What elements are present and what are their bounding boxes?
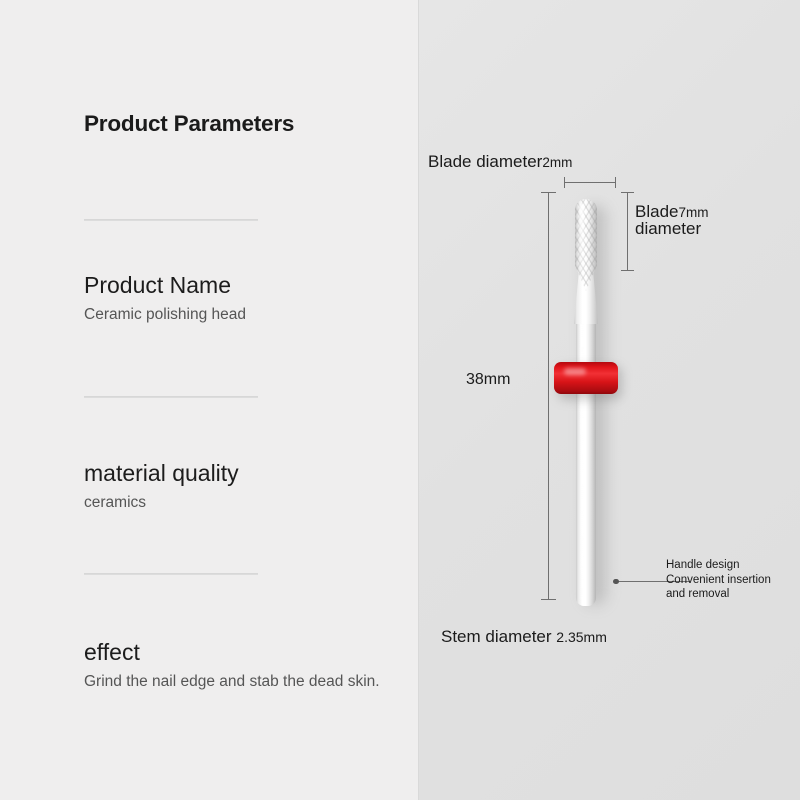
annotation-handle-line2: Convenient insertion bbox=[666, 574, 771, 586]
annotation-handle-design: Handle design Convenient insertion and r… bbox=[666, 558, 794, 602]
parameters-panel: Product Parameters Product Name Ceramic … bbox=[0, 0, 418, 800]
leader-dot-handle-note bbox=[613, 579, 619, 585]
dimension-cap-blade-diameter-right bbox=[615, 177, 616, 188]
annotation-total-length: 38mm bbox=[466, 371, 510, 389]
divider-1 bbox=[84, 219, 258, 221]
annotation-stem-diameter-label: Stem diameter bbox=[441, 627, 552, 646]
product-illustration: Blade diameter2mm Blade7mm diameter 38mm… bbox=[418, 0, 800, 800]
annotation-stem-diameter-value: 2.35mm bbox=[556, 629, 607, 645]
annotation-stem-diameter: Stem diameter 2.35mm bbox=[441, 627, 607, 647]
spec-value-effect: Grind the nail edge and stab the dead sk… bbox=[84, 672, 380, 692]
annotation-blade-length: Blade7mm diameter bbox=[635, 203, 708, 238]
stem-highlight bbox=[580, 305, 584, 600]
page-title: Product Parameters bbox=[84, 111, 294, 137]
stem-shaft bbox=[576, 300, 596, 606]
annotation-handle-line1: Handle design bbox=[666, 559, 740, 571]
panel-divider bbox=[418, 0, 419, 800]
blade-highlight bbox=[579, 203, 584, 281]
spec-label-product-name: Product Name bbox=[84, 273, 246, 299]
annotation-blade-length-value: 7mm bbox=[678, 205, 708, 220]
dimension-line-blade-diameter bbox=[564, 182, 616, 183]
dimension-cap-blade-diameter-left bbox=[564, 177, 565, 188]
product-parameters-page: Product Parameters Product Name Ceramic … bbox=[0, 0, 800, 800]
spec-material-quality: material quality ceramics bbox=[84, 461, 239, 513]
annotation-blade-length-label-line2: diameter bbox=[635, 219, 701, 238]
dimension-line-total-length bbox=[548, 192, 549, 600]
dimension-cap-total-length-top bbox=[541, 192, 556, 193]
dimension-cap-blade-length-top bbox=[621, 192, 634, 193]
dimension-cap-total-length-bottom bbox=[541, 599, 556, 600]
spec-label-material-quality: material quality bbox=[84, 461, 239, 487]
annotation-blade-diameter-value: 2mm bbox=[542, 155, 572, 170]
annotation-blade-diameter: Blade diameter2mm bbox=[428, 152, 572, 172]
red-stopper-ring bbox=[554, 362, 618, 394]
spec-value-product-name: Ceramic polishing head bbox=[84, 305, 246, 325]
spec-value-material-quality: ceramics bbox=[84, 493, 239, 513]
dimension-line-blade-length bbox=[627, 192, 628, 271]
spec-effect: effect Grind the nail edge and stab the … bbox=[84, 640, 380, 692]
annotation-blade-diameter-label: Blade diameter bbox=[428, 152, 542, 171]
annotation-blade-length-label-line1: Blade bbox=[635, 202, 678, 221]
red-ring-highlight bbox=[564, 368, 586, 375]
divider-2 bbox=[84, 396, 258, 398]
spec-label-effect: effect bbox=[84, 640, 380, 666]
product-diagram-panel: Blade diameter2mm Blade7mm diameter 38mm… bbox=[418, 0, 800, 800]
annotation-handle-line3: and removal bbox=[666, 588, 729, 600]
divider-3 bbox=[84, 573, 258, 575]
spec-product-name: Product Name Ceramic polishing head bbox=[84, 273, 246, 325]
dimension-cap-blade-length-bottom bbox=[621, 270, 634, 271]
